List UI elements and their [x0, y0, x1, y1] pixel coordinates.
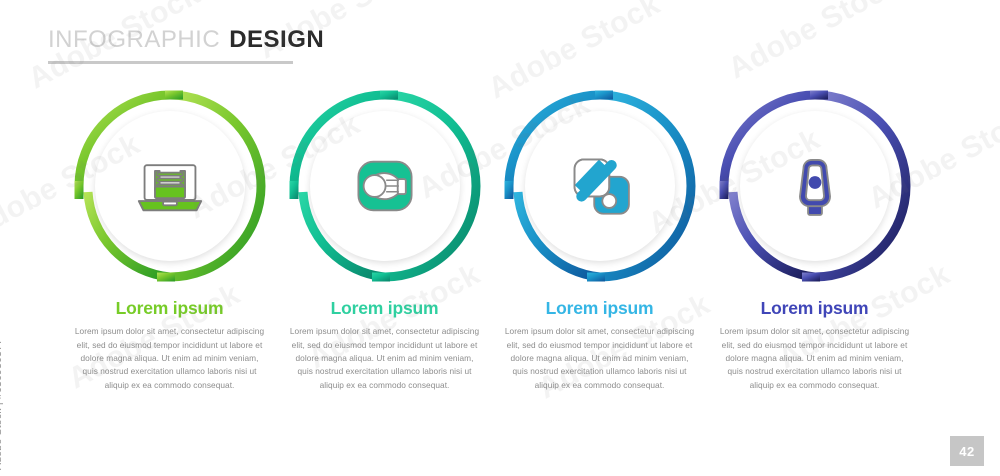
image-number-badge: 42: [950, 436, 984, 466]
column-body-2: Lorem ipsum dolor sit amet, consectetur …: [290, 325, 480, 392]
infographic-columns: Lorem ipsum Lorem ipsum dolor sit amet, …: [0, 88, 1000, 392]
icon-disc-2: [310, 111, 460, 261]
title-bold-part: DESIGN: [229, 28, 324, 52]
infographic-column-3[interactable]: Lorem ipsum Lorem ipsum dolor sit amet, …: [492, 88, 707, 392]
text-block-3: Lorem ipsum Lorem ipsum dolor sit amet, …: [505, 298, 695, 392]
icon-badge-4[interactable]: [717, 88, 913, 284]
icon-disc-3: [525, 111, 675, 261]
column-body-4: Lorem ipsum dolor sit amet, consectetur …: [720, 325, 910, 392]
column-body-3: Lorem ipsum dolor sit amet, consectetur …: [505, 325, 695, 392]
infographic-column-1[interactable]: Lorem ipsum Lorem ipsum dolor sit amet, …: [62, 88, 277, 392]
title-light-part: INFOGRAPHIC: [48, 28, 220, 52]
page-title: INFOGRAPHIC DESIGN: [48, 28, 648, 52]
punching-bag-icon: [778, 149, 852, 223]
icon-badge-3[interactable]: [502, 88, 698, 284]
icon-badge-2[interactable]: [287, 88, 483, 284]
infographic-column-2[interactable]: Lorem ipsum Lorem ipsum dolor sit amet, …: [277, 88, 492, 392]
column-heading-2: Lorem ipsum: [290, 298, 480, 318]
column-heading-1: Lorem ipsum: [75, 298, 265, 318]
icon-badge-1[interactable]: [72, 88, 268, 284]
icon-disc-1: [95, 111, 245, 261]
icon-disc-4: [740, 111, 890, 261]
text-block-4: Lorem ipsum Lorem ipsum dolor sit amet, …: [720, 298, 910, 392]
text-block-2: Lorem ipsum Lorem ipsum dolor sit amet, …: [290, 298, 480, 392]
laptop-boxing-ring-icon: [133, 149, 207, 223]
column-heading-3: Lorem ipsum: [505, 298, 695, 318]
watermark-text: Adobe Stock: [723, 0, 906, 86]
column-body-1: Lorem ipsum dolor sit amet, consectetur …: [75, 325, 265, 392]
boxing-punch-mitts-icon: [563, 149, 637, 223]
page-header: INFOGRAPHIC DESIGN: [48, 28, 648, 64]
column-heading-4: Lorem ipsum: [720, 298, 910, 318]
text-block-1: Lorem ipsum Lorem ipsum dolor sit amet, …: [75, 298, 265, 392]
title-divider: [48, 61, 293, 64]
boxing-glove-icon: [348, 149, 422, 223]
infographic-column-4[interactable]: Lorem ipsum Lorem ipsum dolor sit amet, …: [707, 88, 922, 392]
